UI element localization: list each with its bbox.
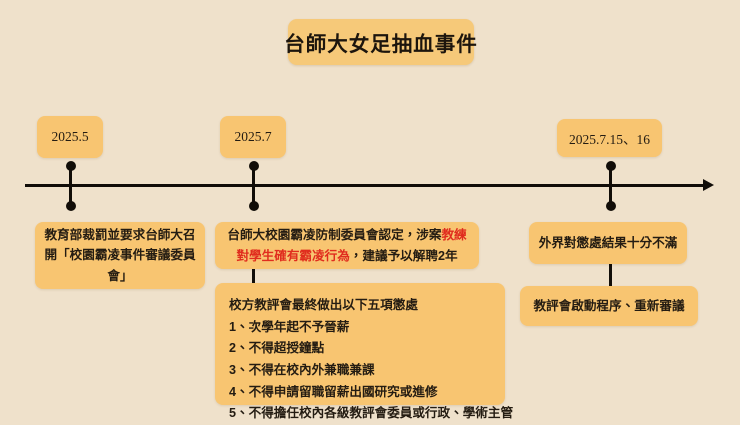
content-text-3: 外界對懲處結果十分不滿 bbox=[539, 233, 678, 253]
followup-text-3: 教評會啟動程序、重新審議 bbox=[533, 296, 684, 316]
date-box-1[interactable]: 2025.5 bbox=[37, 116, 103, 158]
marker-dot-top-icon bbox=[606, 161, 616, 171]
content-suffix-2: ，建議予以解聘2年 bbox=[350, 249, 458, 263]
punishment-list-heading: 校方教評會最終做出以下五項懲處 bbox=[229, 295, 493, 317]
marker-dot-bottom-icon bbox=[249, 201, 259, 211]
date-label-3: 2025.7.15、16 bbox=[569, 128, 650, 148]
punishment-list-item-3: 3、不得在校內外兼職兼課 bbox=[229, 360, 493, 382]
marker-dot-top-icon bbox=[249, 161, 259, 171]
timeline-marker-2 bbox=[252, 166, 255, 206]
content-line-1-2: 開「校園霸凌事件審議委員 bbox=[44, 248, 195, 262]
date-box-2[interactable]: 2025.7 bbox=[220, 116, 286, 158]
date-box-3[interactable]: 2025.7.15、16 bbox=[557, 119, 662, 157]
content-box-3[interactable]: 外界對懲處結果十分不滿 bbox=[529, 222, 687, 264]
content-box-1[interactable]: 教育部裁罰並要求台師大召 開「校園霸凌事件審議委員 會」 bbox=[35, 222, 205, 289]
punishment-list-item-4: 4、不得申請留職留薪出國研究或進修 bbox=[229, 382, 493, 404]
connector-milestone-3 bbox=[609, 264, 612, 286]
content-line-1-3: 會」 bbox=[107, 269, 132, 283]
marker-dot-bottom-icon bbox=[66, 201, 76, 211]
page-title-box: 台師大女足抽血事件 bbox=[288, 19, 474, 65]
timeline-infographic-canvas: 台師大女足抽血事件 2025.5 教育部裁罰並要求台師大召 開「校園霸凌事件審議… bbox=[0, 0, 740, 416]
connector-milestone-2 bbox=[252, 269, 255, 283]
punishment-list-item-2: 2、不得超授鐘點 bbox=[229, 338, 493, 360]
punishment-list-item-5: 5、不得擔任校內各級教評會委員或行政、學術主管 bbox=[229, 403, 493, 425]
marker-dot-bottom-icon bbox=[606, 201, 616, 211]
timeline-axis-line bbox=[25, 184, 709, 187]
marker-dot-top-icon bbox=[66, 161, 76, 171]
content-line-1-1: 教育部裁罰並要求台師大召 bbox=[44, 228, 195, 242]
followup-box-3[interactable]: 教評會啟動程序、重新審議 bbox=[520, 286, 698, 326]
content-box-2[interactable]: 台師大校園霸凌防制委員會認定，涉案教練對學生確有霸凌行為，建議予以解聘2年 bbox=[215, 222, 479, 269]
date-label-1: 2025.5 bbox=[51, 129, 88, 145]
page-title: 台師大女足抽血事件 bbox=[284, 27, 478, 57]
content-text-2: 台師大校園霸凌防制委員會認定，涉案教練對學生確有霸凌行為，建議予以解聘2年 bbox=[224, 225, 470, 266]
timeline-marker-3 bbox=[609, 166, 612, 206]
date-label-2: 2025.7 bbox=[234, 129, 271, 145]
timeline-axis-arrow-icon bbox=[703, 179, 714, 191]
content-prefix-2: 台師大校園霸凌防制委員會認定，涉案 bbox=[227, 228, 441, 242]
timeline-marker-1 bbox=[69, 166, 72, 206]
punishment-list-box[interactable]: 校方教評會最終做出以下五項懲處 1、次學年起不予晉薪 2、不得超授鐘點 3、不得… bbox=[215, 283, 505, 405]
punishment-list-item-1: 1、次學年起不予晉薪 bbox=[229, 317, 493, 339]
content-text-1: 教育部裁罰並要求台師大召 開「校園霸凌事件審議委員 會」 bbox=[44, 225, 195, 286]
